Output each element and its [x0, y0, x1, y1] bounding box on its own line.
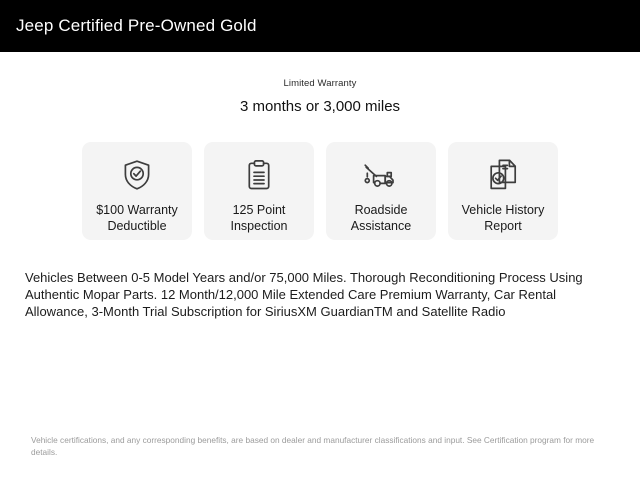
program-description: Vehicles Between 0-5 Model Years and/or … [16, 269, 624, 320]
header-bar: Jeep Certified Pre-Owned Gold [0, 0, 640, 52]
footer: Vehicle certifications, and any correspo… [0, 434, 640, 458]
benefit-card-label: $100 Warranty Deductible [82, 202, 192, 234]
warranty-summary: Limited Warranty 3 months or 3,000 miles [16, 52, 624, 117]
benefit-card-label: 125 Point Inspection [204, 202, 314, 234]
warranty-value: 3 months or 3,000 miles [16, 97, 624, 117]
benefit-card-vehicle-history[interactable]: Vehicle History Report [448, 142, 558, 240]
warranty-label: Limited Warranty [16, 78, 624, 90]
page-title: Jeep Certified Pre-Owned Gold [16, 16, 257, 36]
shield-check-icon [122, 157, 152, 193]
benefit-card-roadside-assistance[interactable]: Roadside Assistance [326, 142, 436, 240]
benefit-card-warranty-deductible[interactable]: $100 Warranty Deductible [82, 142, 192, 240]
benefit-card-point-inspection[interactable]: 125 Point Inspection [204, 142, 314, 240]
benefit-card-label: Vehicle History Report [448, 202, 558, 234]
benefit-card-list: $100 Warranty Deductible 125 Point Inspe… [16, 142, 624, 240]
clipboard-icon [245, 157, 273, 193]
main-content: Limited Warranty 3 months or 3,000 miles… [0, 52, 640, 480]
tow-truck-icon [363, 157, 399, 193]
disclaimer-text: Vehicle certifications, and any correspo… [31, 434, 608, 458]
certified-preowned-page: Jeep Certified Pre-Owned Gold Limited Wa… [0, 0, 640, 480]
benefit-card-label: Roadside Assistance [326, 202, 436, 234]
document-check-icon [488, 157, 518, 193]
